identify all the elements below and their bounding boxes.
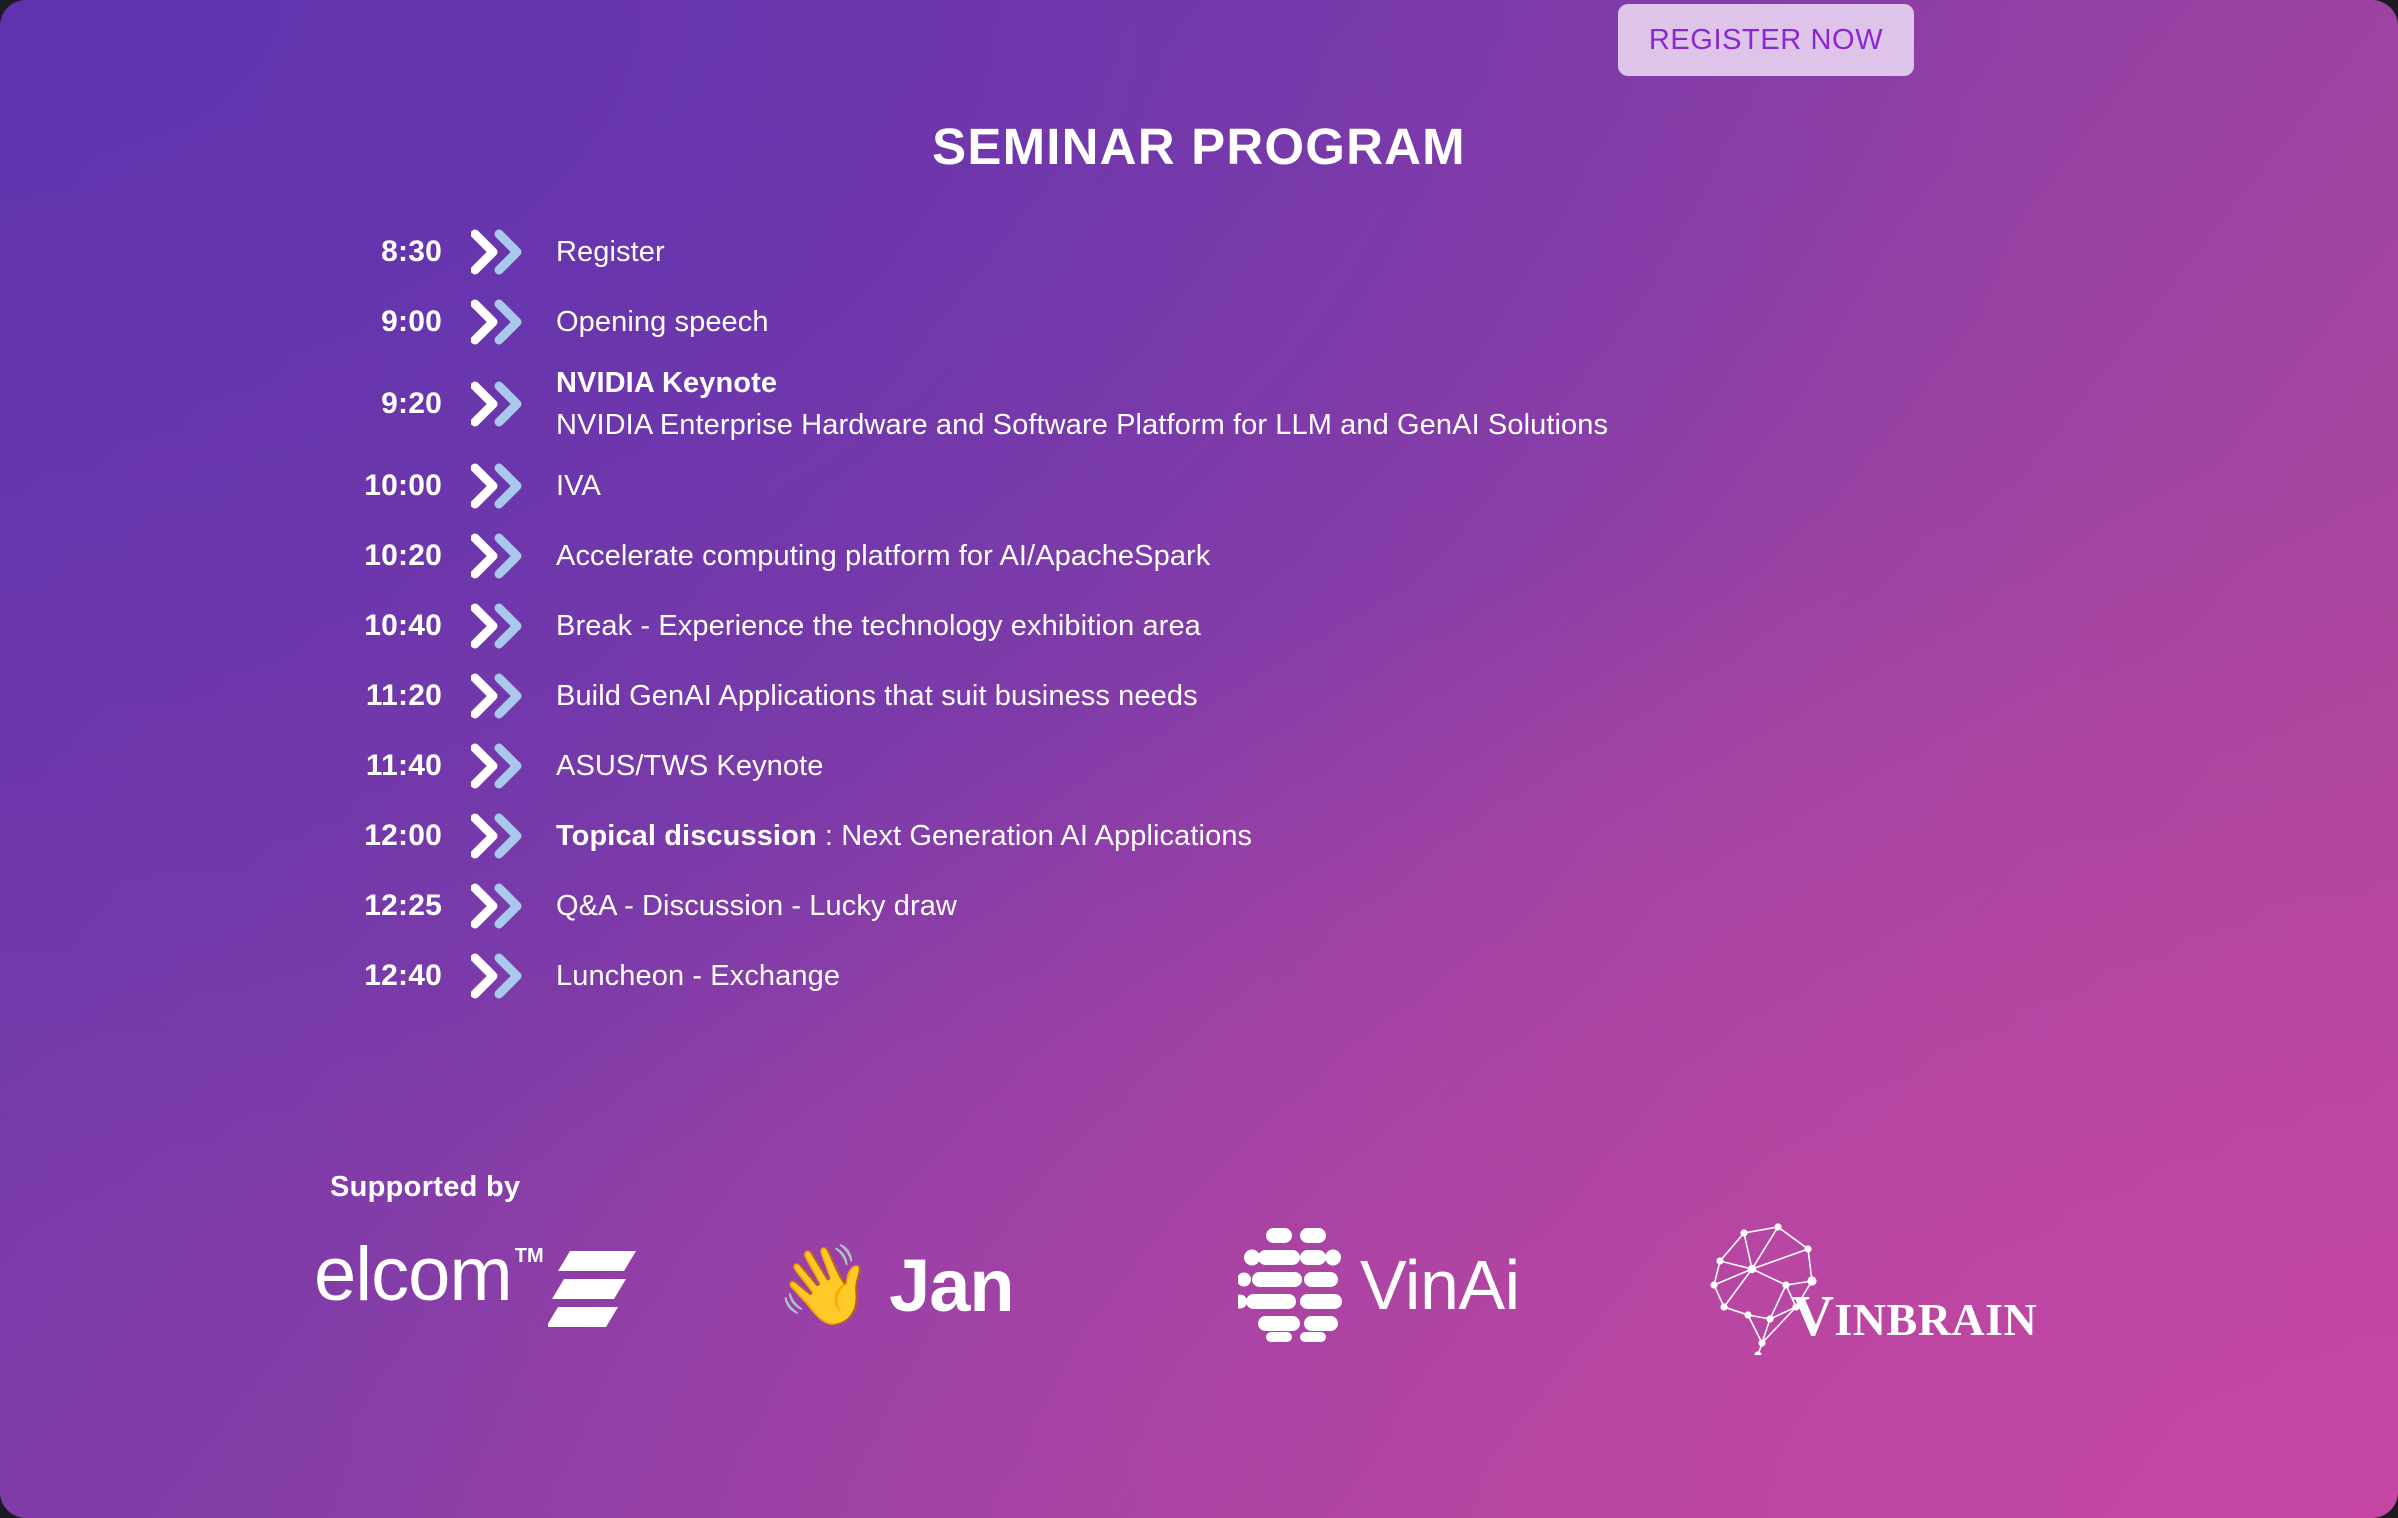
double-chevron-right-icon	[464, 533, 534, 579]
schedule-description: Topical discussion : Next Generation AI …	[556, 817, 1252, 856]
supported-by-label: Supported by	[330, 1171, 521, 1204]
double-chevron-right-icon	[464, 463, 534, 509]
schedule-row: 10:00IVA	[330, 451, 2230, 521]
waving-hand-icon: 👋	[776, 1246, 873, 1324]
schedule-time: 11:40	[330, 749, 442, 783]
schedule-title: Topical discussion	[556, 820, 817, 852]
schedule-description: Luncheon - Exchange	[556, 957, 840, 996]
schedule-time: 10:20	[330, 539, 442, 573]
schedule-description: ASUS/TWS Keynote	[556, 747, 824, 786]
schedule-row: 10:20Accelerate computing platform for A…	[330, 521, 2230, 591]
double-chevron-right-icon	[464, 813, 534, 859]
schedule-description: Register	[556, 233, 665, 272]
page-title: SEMINAR PROGRAM	[0, 117, 2398, 176]
schedule-time: 11:20	[330, 679, 442, 713]
schedule-title: ASUS/TWS Keynote	[556, 750, 824, 782]
vinai-wordmark: VinAi	[1360, 1245, 1520, 1325]
schedule-title: Luncheon - Exchange	[556, 960, 840, 992]
schedule-description: Break - Experience the technology exhibi…	[556, 607, 1201, 646]
schedule-title-suffix: : Next Generation AI Applications	[817, 820, 1252, 852]
schedule-row: 10:40Break - Experience the technology e…	[330, 591, 2230, 661]
sponsor-logo-elcom: elcom TM	[300, 1215, 762, 1355]
schedule-time: 12:00	[330, 819, 442, 853]
sponsor-logo-jan: 👋 Jan	[762, 1215, 1224, 1355]
double-chevron-right-icon	[464, 883, 534, 929]
elcom-trademark: TM	[515, 1245, 544, 1268]
schedule-title: Opening speech	[556, 306, 769, 338]
register-now-button[interactable]: REGISTER NOW	[1618, 4, 1914, 76]
vinbrain-wordmark-cap: V	[1792, 1283, 1834, 1348]
elcom-e-mark-icon	[548, 1251, 636, 1332]
schedule-description: Build GenAI Applications that suit busin…	[556, 677, 1198, 716]
elcom-wordmark: elcom	[314, 1239, 512, 1311]
schedule-time: 10:00	[330, 469, 442, 503]
schedule-row: 9:00Opening speech	[330, 287, 2230, 357]
schedule-row: 12:25Q&A - Discussion - Lucky draw	[330, 871, 2230, 941]
double-chevron-right-icon	[464, 229, 534, 275]
schedule-title: NVIDIA Keynote	[556, 367, 777, 399]
sponsor-logo-vinai: VinAi	[1224, 1215, 1686, 1355]
schedule-row: 12:40Luncheon - Exchange	[330, 941, 2230, 1011]
schedule-description: NVIDIA KeynoteNVIDIA Enterprise Hardware…	[556, 364, 1608, 444]
seminar-program-page: REGISTER NOW SEMINAR PROGRAM 8:30Registe…	[0, 0, 2398, 1518]
schedule-row: 8:30Register	[330, 217, 2230, 287]
schedule-time: 10:40	[330, 609, 442, 643]
schedule-time: 8:30	[330, 235, 442, 269]
double-chevron-right-icon	[464, 299, 534, 345]
vinai-network-mark-icon	[1238, 1224, 1344, 1347]
schedule-title: Q&A - Discussion - Lucky draw	[556, 890, 957, 922]
schedule-title: Accelerate computing platform for AI/Apa…	[556, 540, 1210, 572]
schedule-time: 9:20	[330, 387, 442, 421]
schedule-description: Q&A - Discussion - Lucky draw	[556, 887, 957, 926]
double-chevron-right-icon	[464, 381, 534, 427]
schedule-row: 9:20NVIDIA KeynoteNVIDIA Enterprise Hard…	[330, 357, 2230, 451]
schedule-title: Register	[556, 236, 665, 268]
schedule-description: Opening speech	[556, 303, 769, 342]
schedule-description: Accelerate computing platform for AI/Apa…	[556, 537, 1210, 576]
schedule-row: 11:20Build GenAI Applications that suit …	[330, 661, 2230, 731]
double-chevron-right-icon	[464, 743, 534, 789]
schedule-title: Build GenAI Applications that suit busin…	[556, 680, 1198, 712]
schedule-title: Break - Experience the technology exhibi…	[556, 610, 1201, 642]
sponsor-logo-vinbrain: VINBRAIN	[1686, 1215, 2148, 1355]
sponsor-logos: elcom TM 👋 Jan	[300, 1215, 2150, 1355]
double-chevron-right-icon	[464, 673, 534, 719]
schedule-subtitle: NVIDIA Enterprise Hardware and Software …	[556, 406, 1608, 445]
schedule-row: 11:40ASUS/TWS Keynote	[330, 731, 2230, 801]
vinbrain-wordmark: VINBRAIN	[1792, 1282, 2037, 1349]
schedule-time: 12:25	[330, 889, 442, 923]
schedule-time: 9:00	[330, 305, 442, 339]
schedule-row: 12:00Topical discussion : Next Generatio…	[330, 801, 2230, 871]
schedule-title: IVA	[556, 470, 601, 502]
jan-wordmark: Jan	[889, 1243, 1014, 1328]
schedule-time: 12:40	[330, 959, 442, 993]
schedule-list: 8:30Register9:00Opening speech9:20NVIDIA…	[330, 217, 2230, 1011]
schedule-description: IVA	[556, 467, 601, 506]
double-chevron-right-icon	[464, 953, 534, 999]
double-chevron-right-icon	[464, 603, 534, 649]
vinbrain-wordmark-rest: INBRAIN	[1834, 1294, 2037, 1345]
